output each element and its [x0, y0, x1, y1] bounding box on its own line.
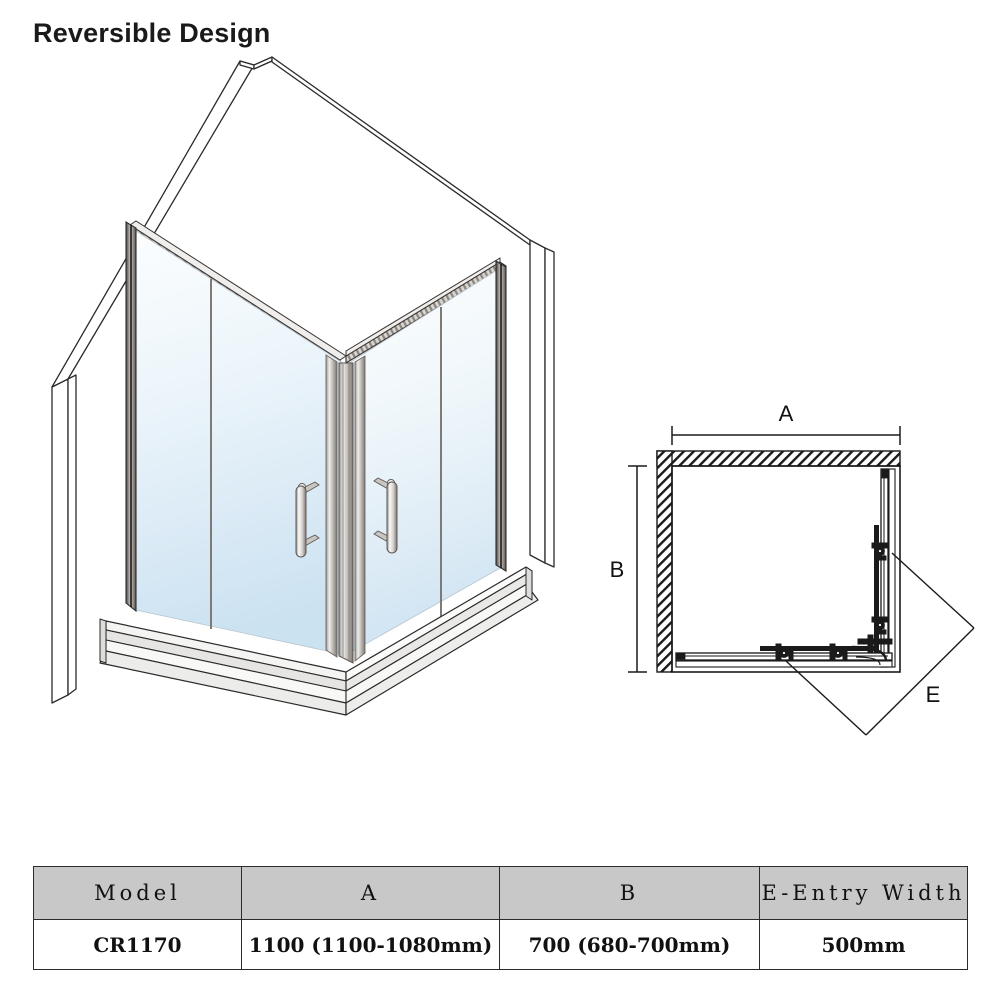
table-row: CR1170 1100 (1100-1080mm) 700 (680-700mm… — [34, 920, 968, 970]
cell-e: 500mm — [760, 920, 968, 970]
plan-svg: A B — [600, 395, 990, 765]
frame-post-left — [126, 222, 136, 611]
track-right — [858, 469, 895, 667]
header-b: B — [500, 867, 760, 920]
dimension-a — [672, 426, 900, 445]
dimension-b — [628, 466, 647, 672]
door-stile-right — [355, 356, 365, 661]
cell-a: 1100 (1100-1080mm) — [242, 920, 500, 970]
dimension-a-label: A — [779, 401, 794, 426]
header-a: A — [242, 867, 500, 920]
specification-table: Model A B E-Entry Width CR1170 1100 (110… — [33, 866, 968, 970]
plan-drawing: A B — [600, 395, 990, 765]
door-stile-left — [326, 355, 337, 657]
header-model: Model — [34, 867, 242, 920]
cell-b: 700 (680-700mm) — [500, 920, 760, 970]
dimension-b-label: B — [610, 557, 625, 582]
frame-post-right — [496, 261, 506, 571]
page-title: Reversible Design — [33, 18, 271, 49]
isometric-svg — [40, 55, 580, 755]
isometric-drawing — [40, 55, 580, 755]
track-bottom — [676, 644, 892, 667]
cell-model: CR1170 — [34, 920, 242, 970]
table-header-row: Model A B E-Entry Width — [34, 867, 968, 920]
entry-label: E — [926, 682, 941, 707]
header-e-entry-width: E-Entry Width — [760, 867, 968, 920]
frame-post-corner — [339, 363, 353, 663]
